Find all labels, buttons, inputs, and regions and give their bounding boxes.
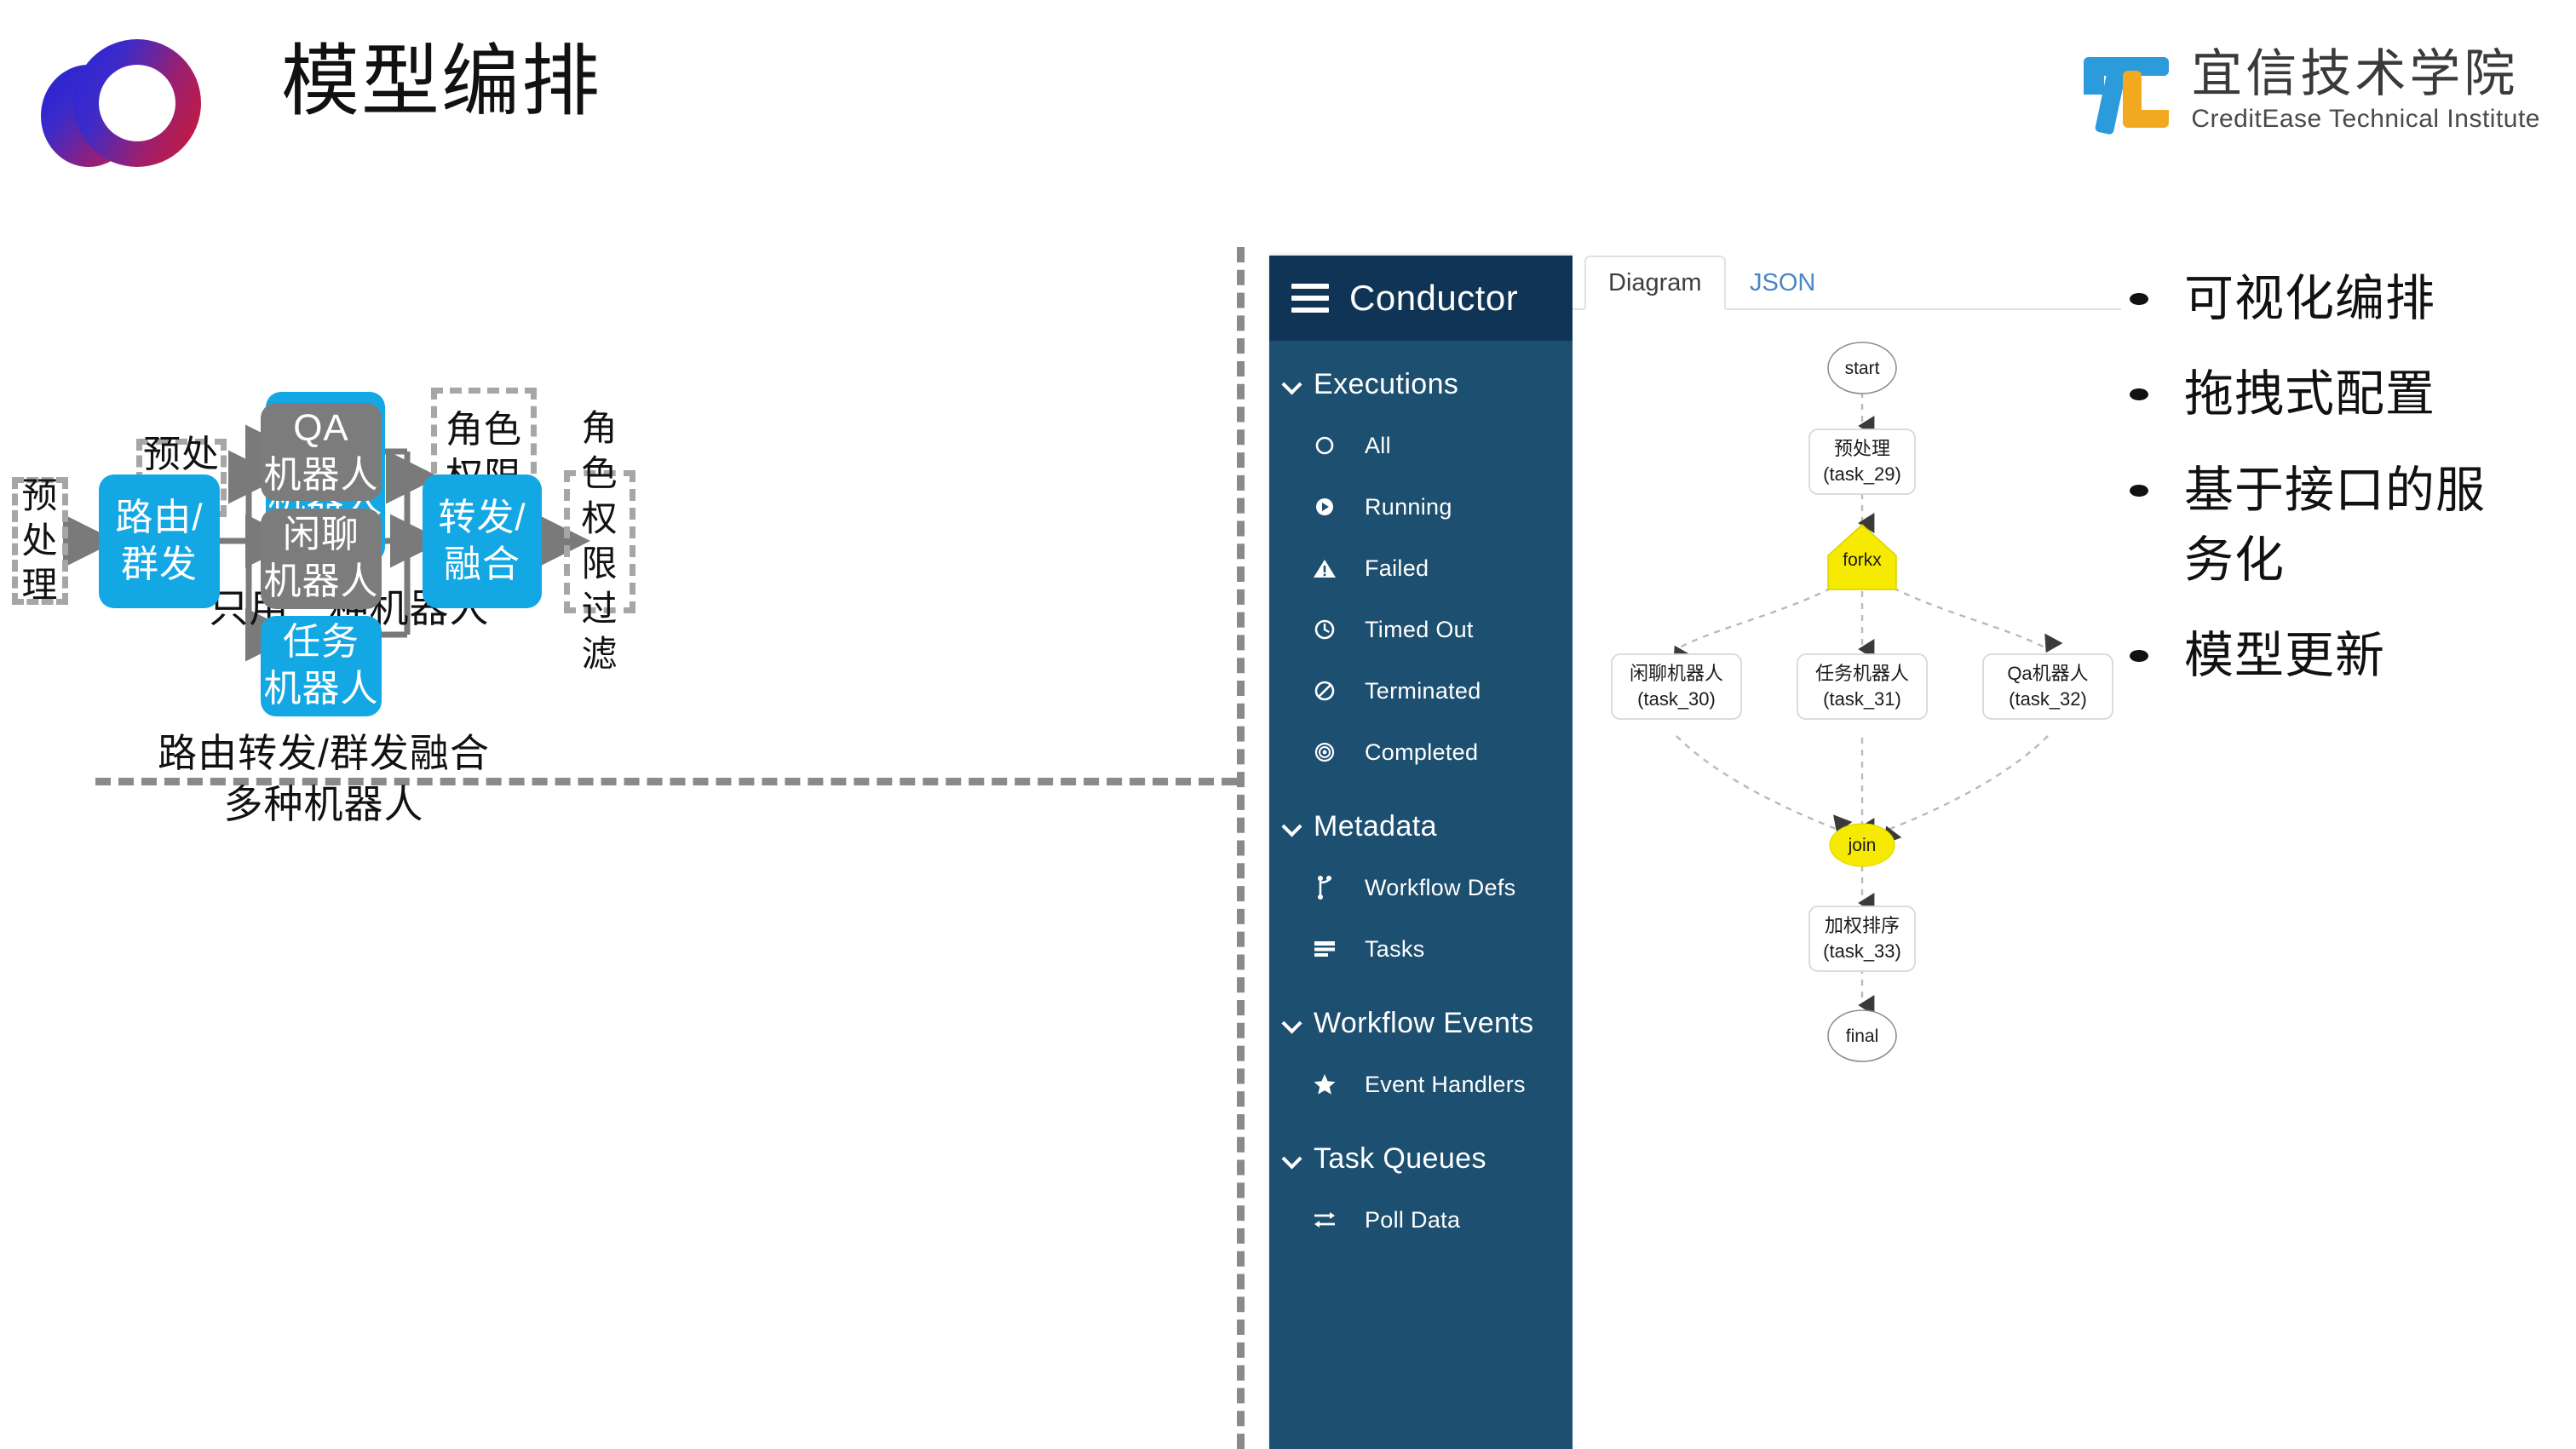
nav-group-header-workflow-events[interactable]: Workflow Events	[1269, 993, 1573, 1054]
graph-node-task-31-sub: (task_31)	[1823, 688, 1901, 710]
node-label-line2: 融合	[444, 542, 520, 589]
list-item: 基于接口的服务化	[2130, 456, 2576, 596]
workflow-canvas-panel: Diagram JSON	[1573, 256, 2121, 1449]
sidebar-item-workflow-defs[interactable]: Workflow Defs	[1269, 857, 1573, 918]
node-label-line3: 过滤	[570, 587, 630, 677]
block-icon	[1308, 675, 1341, 707]
node-label-line2: 群发	[121, 542, 198, 589]
sidebar-header: Conductor	[1269, 256, 1573, 341]
caption-multi-bot: 路由转发/群发融合 多种机器人	[145, 728, 503, 831]
tc-mark-bar-c-horizontal	[2123, 110, 2169, 128]
graph-node-task-32-label: Qa机器人	[2007, 663, 2088, 684]
sidebar-item-label: Tasks	[1365, 936, 1425, 963]
sidebar-item-label: Workflow Defs	[1365, 875, 1515, 901]
node-router-broadcast: 路由/ 群发	[99, 474, 220, 608]
sidebar-item-label: Event Handlers	[1365, 1072, 1526, 1098]
sidebar-item-timed-out[interactable]: Timed Out	[1269, 599, 1573, 660]
list-item: 模型更新	[2130, 621, 2576, 691]
fork-icon	[1308, 871, 1341, 904]
node-role-permission-filter-multi: 角色 权限 过滤	[564, 470, 635, 613]
sidebar-item-poll-data[interactable]: Poll Data	[1269, 1189, 1573, 1251]
nav-group-task-queues: Task Queues Poll Data	[1269, 1129, 1573, 1251]
graph-node-task-32-sub: (task_32)	[2009, 688, 2087, 710]
graph-node-task-33-sub: (task_33)	[1823, 940, 1901, 962]
node-label-line1: 路由/	[115, 495, 203, 542]
sidebar-item-label: Timed Out	[1365, 617, 1474, 643]
exchange-arrows-icon	[1308, 1204, 1341, 1236]
bullet-dot-icon	[2130, 485, 2148, 497]
feature-bullet-list: 可视化编排 拖拽式配置 基于接口的服务化 模型更新	[2130, 264, 2576, 717]
list-icon	[1308, 933, 1341, 965]
target-icon	[1308, 736, 1341, 768]
clock-icon	[1308, 613, 1341, 646]
node-label-line1: 任务	[283, 619, 359, 666]
warning-triangle-icon	[1308, 552, 1341, 584]
graph-node-task-29-label: 预处理	[1834, 438, 1890, 459]
org-name-cn: 宜信技术学院	[2191, 49, 2518, 100]
node-label-line1: 预	[21, 474, 58, 519]
tab-json[interactable]: JSON	[1728, 256, 1837, 310]
conductor-app-window: Conductor Executions All Running	[1269, 256, 2121, 1449]
node-label-line1: 角色	[570, 406, 630, 497]
flow-connector-lines	[0, 221, 1242, 1449]
vertical-divider	[1237, 247, 1245, 1449]
hamburger-icon[interactable]	[1291, 284, 1329, 313]
nav-group-header-executions[interactable]: Executions	[1269, 354, 1573, 415]
sidebar-item-label: Completed	[1365, 739, 1478, 766]
star-icon	[1308, 1068, 1341, 1101]
bullet-dot-icon	[2130, 293, 2148, 305]
nav-group-label: Task Queues	[1314, 1142, 1486, 1176]
sidebar-item-running[interactable]: Running	[1269, 476, 1573, 538]
brand-logo-icon	[41, 39, 211, 167]
workflow-graph-svg: start 预处理 (task_29) forkx 闲聊机器人 (task_30…	[1573, 310, 2121, 1449]
chevron-down-icon	[1281, 1148, 1303, 1170]
circle-icon	[1308, 429, 1341, 462]
nav-group-executions: Executions All Running Failed	[1269, 354, 1573, 783]
node-label-line2: 机器人	[264, 559, 379, 606]
org-text: 宜信技术学院 CreditEase Technical Institute	[2191, 49, 2540, 134]
graph-node-start-label: start	[1845, 359, 1880, 378]
bullet-dot-icon	[2130, 650, 2148, 662]
bullet-label: 可视化编排	[2184, 264, 2435, 334]
tab-label: JSON	[1750, 269, 1815, 297]
chevron-down-icon	[1281, 374, 1303, 396]
sidebar-item-label: All	[1365, 433, 1391, 459]
sidebar-item-label: Failed	[1365, 555, 1429, 582]
app-name: Conductor	[1349, 278, 1518, 319]
tab-diagram[interactable]: Diagram	[1584, 256, 1726, 310]
sidebar-item-terminated[interactable]: Terminated	[1269, 660, 1573, 722]
org-logo: 宜信技术学院 CreditEase Technical Institute	[2079, 41, 2540, 141]
nav-group-header-metadata[interactable]: Metadata	[1269, 796, 1573, 857]
page-title: 模型编排	[281, 37, 601, 128]
org-name-en: CreditEase Technical Institute	[2191, 105, 2540, 134]
node-label-line2: 处	[21, 519, 58, 564]
sidebar-item-all[interactable]: All	[1269, 415, 1573, 476]
node-label-line1: 转发/	[438, 495, 526, 542]
graph-node-task-29-sub: (task_29)	[1823, 463, 1901, 485]
node-qa-bot-multi: QA 机器人	[261, 403, 382, 501]
conductor-sidebar: Conductor Executions All Running	[1269, 256, 1573, 1449]
chevron-down-icon	[1281, 816, 1303, 838]
node-preprocess-multi: 预 处 理	[12, 477, 68, 605]
sidebar-item-failed[interactable]: Failed	[1269, 538, 1573, 599]
sidebar-item-tasks[interactable]: Tasks	[1269, 918, 1573, 980]
nav-group-label: Metadata	[1314, 810, 1437, 843]
nav-group-header-task-queues[interactable]: Task Queues	[1269, 1129, 1573, 1189]
node-forward-fusion: 转发/ 融合	[423, 474, 542, 608]
canvas-tabbar: Diagram JSON	[1573, 256, 2121, 310]
graph-node-task-31-label: 任务机器人	[1815, 663, 1909, 684]
node-label-line1: 闲聊	[283, 512, 359, 559]
sidebar-item-event-handlers[interactable]: Event Handlers	[1269, 1054, 1573, 1115]
nav-group-metadata: Metadata Workflow Defs Tasks	[1269, 796, 1573, 980]
node-label-line3: 理	[21, 563, 58, 608]
nav-group-workflow-events: Workflow Events Event Handlers	[1269, 993, 1573, 1115]
node-label-line1: QA	[293, 405, 349, 452]
tab-label: Diagram	[1608, 269, 1702, 297]
tc-mark-bar-left	[2084, 57, 2104, 95]
graph-node-task-30-sub: (task_30)	[1637, 688, 1716, 710]
sidebar-item-label: Running	[1365, 494, 1452, 520]
logo-ring-front	[73, 39, 201, 167]
graph-node-join-label: join	[1848, 836, 1877, 855]
chevron-down-icon	[1281, 1013, 1303, 1035]
bullet-label: 拖拽式配置	[2184, 359, 2435, 429]
workflow-graph[interactable]: start 预处理 (task_29) forkx 闲聊机器人 (task_30…	[1573, 310, 2121, 1449]
graph-node-task-30-label: 闲聊机器人	[1630, 663, 1723, 684]
node-label-line2: 机器人	[264, 452, 379, 499]
node-chat-bot-multi: 闲聊 机器人	[261, 509, 382, 609]
graph-node-forkx-label: forkx	[1843, 550, 1882, 570]
graph-node-task-33-label: 加权排序	[1825, 915, 1900, 936]
sidebar-item-label: Terminated	[1365, 678, 1481, 704]
bullet-label: 模型更新	[2184, 621, 2385, 691]
slide-header: 模型编排 宜信技术学院 CreditEase Technical Institu…	[0, 0, 2576, 221]
list-item: 可视化编排	[2130, 264, 2576, 334]
sidebar-item-label: Poll Data	[1365, 1207, 1460, 1233]
node-label-line2: 权限	[570, 497, 630, 587]
node-task-bot-multi: 任务 机器人	[261, 616, 382, 716]
left-diagram-pane: 预处理 QA 机器人 角色权限 过滤 只用一种机器人 预 处 理 路由/ 群发 …	[0, 221, 1242, 1449]
play-circle-icon	[1308, 491, 1341, 523]
nav-group-label: Executions	[1314, 368, 1458, 401]
bullet-label: 基于接口的服务化	[2184, 456, 2508, 596]
list-item: 拖拽式配置	[2130, 359, 2576, 429]
nav-group-label: Workflow Events	[1314, 1007, 1534, 1040]
graph-node-final-label: final	[1846, 1026, 1879, 1046]
creditease-tc-mark-icon	[2079, 50, 2172, 132]
node-label-line2: 机器人	[264, 666, 379, 713]
sidebar-item-completed[interactable]: Completed	[1269, 722, 1573, 783]
bullet-dot-icon	[2130, 388, 2148, 400]
